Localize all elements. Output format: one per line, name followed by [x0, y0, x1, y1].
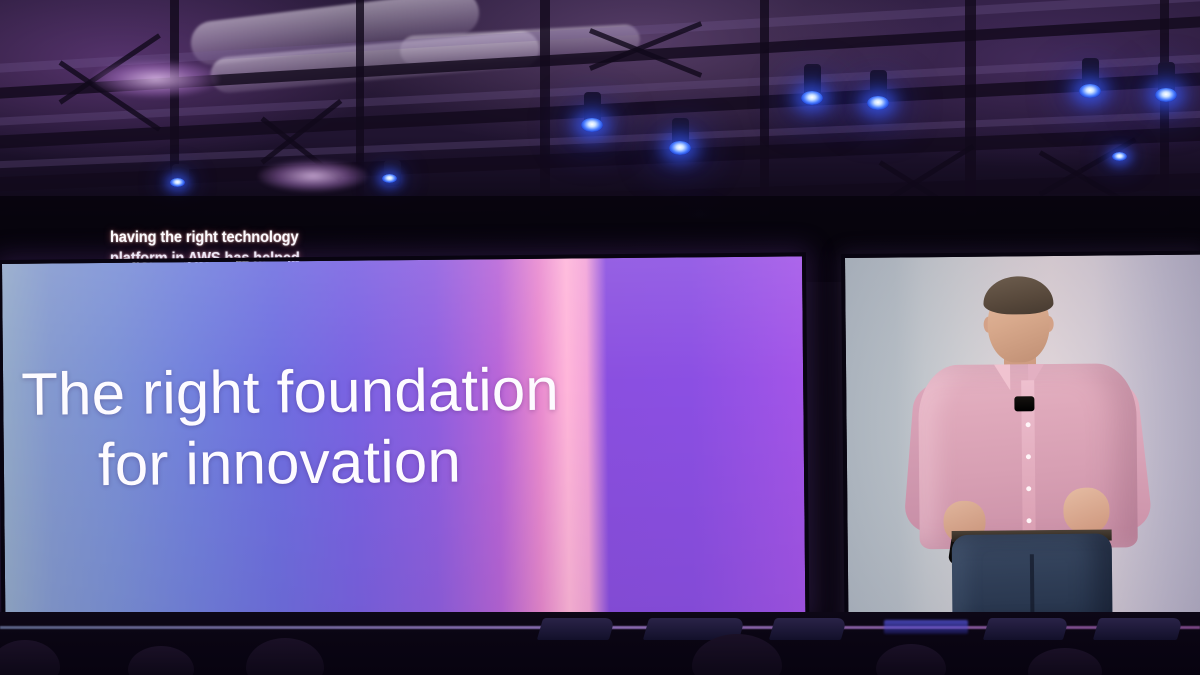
stage-monitor-glow — [884, 620, 968, 634]
caption-line-1: having the right technology — [110, 228, 505, 249]
shirt-button — [1026, 486, 1031, 491]
presenter-figure — [901, 271, 1154, 629]
slide-title: The right foundation for innovation — [2, 257, 694, 501]
presentation-screen: The right foundation for innovation — [2, 256, 805, 620]
slide-title-line-2: for innovation — [22, 424, 695, 501]
blue-spotlight-icon — [801, 91, 823, 105]
shirt-button — [1027, 518, 1032, 523]
shirt-button — [1026, 422, 1031, 427]
blue-spotlight-icon — [867, 96, 889, 110]
uplight-glow — [258, 160, 368, 192]
blue-spotlight-icon — [669, 141, 691, 155]
slide-title-line-1: The right foundation — [21, 356, 559, 428]
blue-spotlight-icon — [581, 118, 603, 132]
keynote-stage-scene: having the right technology platform in … — [0, 0, 1200, 675]
blue-spotlight-icon — [170, 178, 185, 187]
blue-spotlight-icon — [1112, 152, 1127, 161]
presenter-right-hand — [1063, 487, 1109, 533]
shirt-collar-left — [994, 364, 1010, 390]
stage-monitor — [537, 618, 615, 640]
speaker-camera-screen — [845, 255, 1200, 630]
shirt-button — [1026, 454, 1031, 459]
stage-monitor — [1093, 618, 1183, 640]
stage-monitor — [983, 618, 1069, 640]
blue-spotlight-icon — [1079, 84, 1101, 98]
blue-spotlight-icon — [382, 174, 397, 183]
blue-spotlight-icon — [1155, 88, 1177, 102]
stage-monitor — [769, 618, 847, 640]
presenter-hair — [983, 276, 1053, 315]
lapel-microphone-icon — [1014, 396, 1034, 411]
uplight-glow — [92, 60, 220, 98]
